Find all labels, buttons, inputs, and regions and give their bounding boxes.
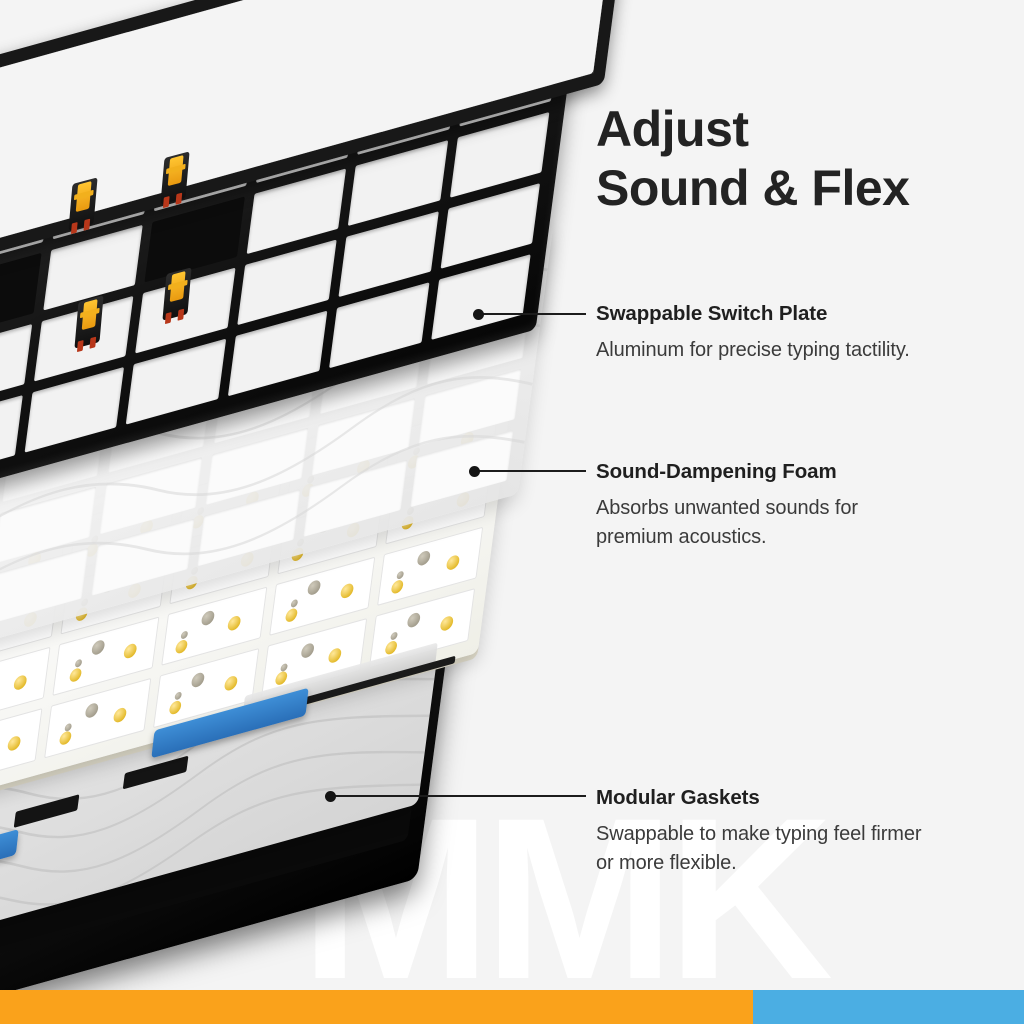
callout-modular-gaskets: Modular Gaskets Swappable to make typing… [596, 784, 936, 879]
leader-dot-icon [469, 466, 480, 477]
infographic-canvas: MMK [0, 0, 1024, 1024]
mechanical-switch [162, 267, 191, 320]
leader-line-gaskets [330, 795, 586, 797]
switch-plate-cutout [0, 395, 23, 481]
leader-line-switch-plate [478, 313, 586, 315]
switch-plate-cutout [0, 253, 41, 339]
page-title: Adjust Sound & Flex [596, 100, 1016, 218]
callout-title: Swappable Switch Plate [596, 300, 936, 327]
mechanical-switch [160, 151, 189, 204]
exploded-keyboard-illustration [0, 0, 670, 1024]
headline-line-2: Sound & Flex [596, 159, 1016, 218]
mechanical-switch [74, 295, 103, 348]
leader-dot-icon [473, 309, 484, 320]
callout-title: Modular Gaskets [596, 784, 936, 811]
mechanical-switch [68, 177, 97, 230]
callout-title: Sound-Dampening Foam [596, 458, 936, 485]
callout-body: Aluminum for precise typing tactility. [596, 336, 936, 365]
leader-line-foam [474, 470, 586, 472]
callout-body: Absorbs unwanted sounds for premium acou… [596, 494, 936, 553]
callout-body: Swappable to make typing feel firmer or … [596, 820, 936, 879]
callout-sound-dampening-foam: Sound-Dampening Foam Absorbs unwanted so… [596, 458, 936, 553]
leader-dot-icon [325, 791, 336, 802]
headline-line-1: Adjust [596, 101, 749, 157]
callout-swappable-switch-plate: Swappable Switch Plate Aluminum for prec… [596, 300, 936, 365]
text-column: Adjust Sound & Flex Swappable Switch Pla… [596, 0, 1024, 1024]
